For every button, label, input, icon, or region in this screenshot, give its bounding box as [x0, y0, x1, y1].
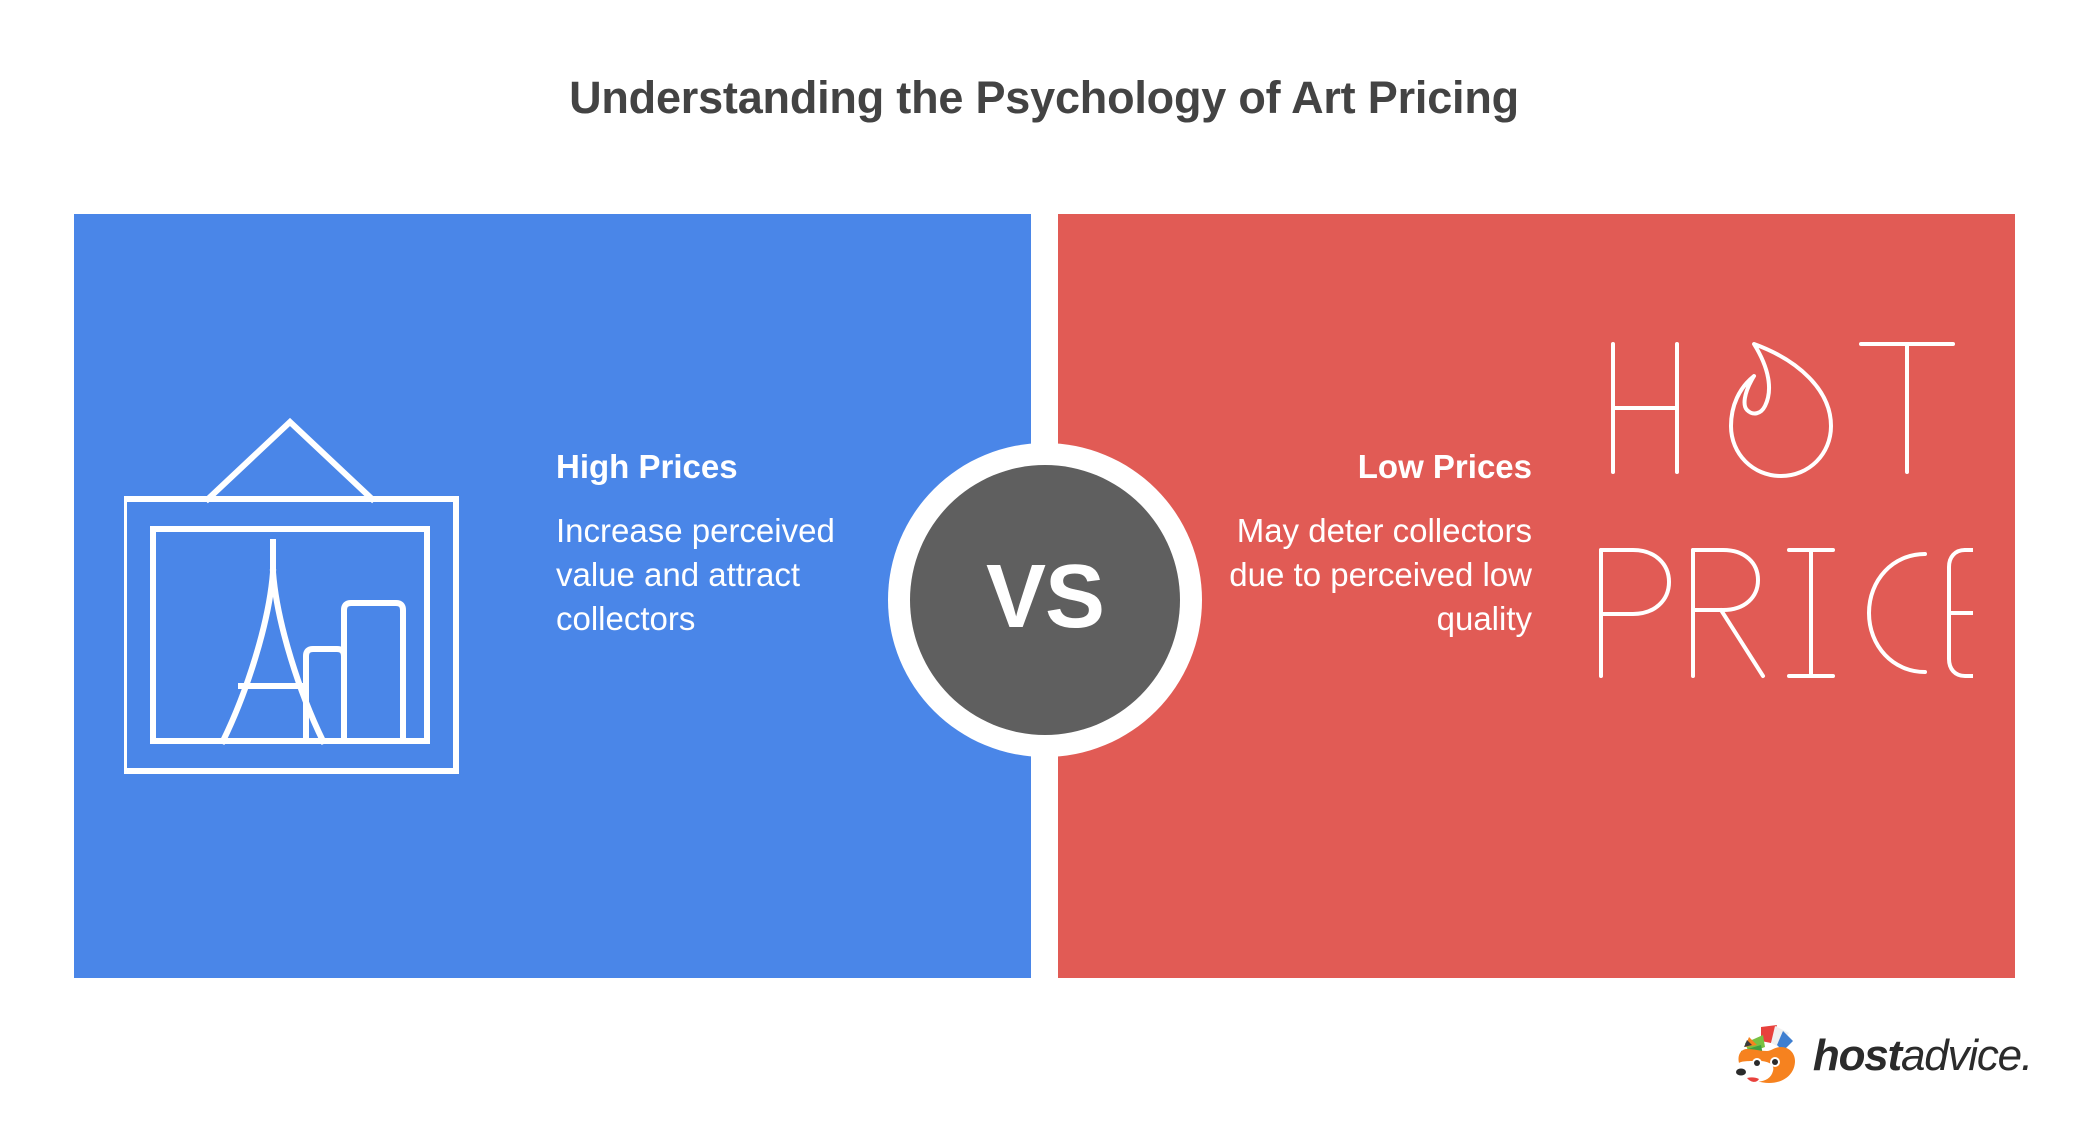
- vs-badge: VS: [888, 443, 1202, 757]
- high-prices-body: Increase perceived value and attract col…: [556, 509, 876, 641]
- high-prices-heading: High Prices: [556, 449, 876, 485]
- fox-mascot-icon: [1731, 1023, 1807, 1089]
- hot-price-flame-icon: [1593, 334, 1973, 694]
- low-prices-heading: Low Prices: [1202, 449, 1532, 485]
- framed-artwork-icon: [124, 394, 524, 794]
- vs-label: VS: [986, 552, 1104, 648]
- high-prices-text-block: High Prices Increase perceived value and…: [556, 449, 876, 641]
- brand-name-light: advice: [1901, 1031, 2021, 1080]
- brand-name-bold: host: [1813, 1031, 1901, 1080]
- hostadvice-logo[interactable]: hostadvice.: [1731, 1023, 2032, 1089]
- page-title: Understanding the Psychology of Art Pric…: [0, 72, 2088, 124]
- low-prices-text-block: Low Prices May deter collectors due to p…: [1202, 449, 1532, 641]
- vs-badge-circle: VS: [910, 465, 1180, 735]
- brand-name-period: .: [2021, 1031, 2032, 1080]
- hostadvice-wordmark: hostadvice.: [1813, 1034, 2032, 1078]
- low-prices-body: May deter collectors due to perceived lo…: [1202, 509, 1532, 641]
